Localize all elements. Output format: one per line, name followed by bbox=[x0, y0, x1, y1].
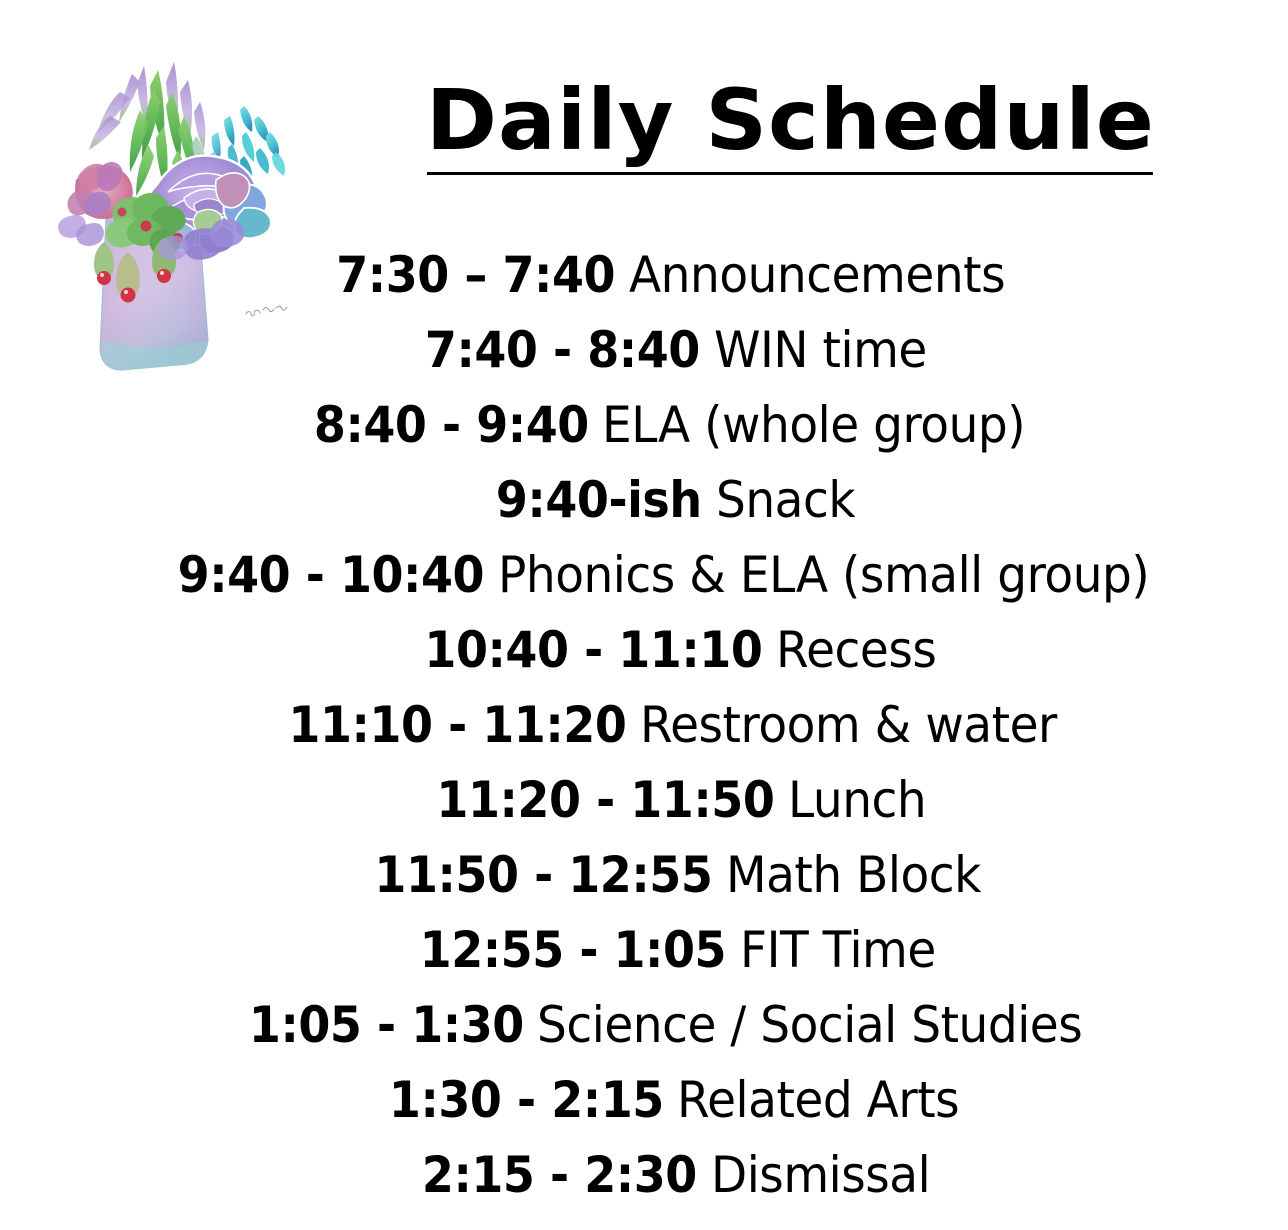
schedule-row: 7:40 - 8:40WIN time bbox=[54, 313, 1288, 388]
schedule-list: 7:30 – 7:40Announcements7:40 - 8:40WIN t… bbox=[0, 238, 1288, 1213]
schedule-time: 9:40-ish bbox=[496, 463, 702, 538]
schedule-activity: Restroom & water bbox=[640, 688, 1057, 763]
schedule-row: 11:20 - 11:50Lunch bbox=[54, 763, 1288, 838]
schedule-activity: Snack bbox=[716, 463, 855, 538]
schedule-row: 12:55 - 1:05FIT Time bbox=[54, 913, 1288, 988]
schedule-row: 9:40-ishSnack bbox=[54, 463, 1288, 538]
schedule-row: 11:50 - 12:55Math Block bbox=[54, 838, 1288, 913]
schedule-activity: Lunch bbox=[788, 763, 926, 838]
schedule-activity: WIN time bbox=[714, 313, 927, 388]
schedule-time: 12:55 - 1:05 bbox=[420, 913, 726, 988]
schedule-row: 1:05 - 1:30Science / Social Studies bbox=[54, 988, 1288, 1063]
schedule-time: 11:20 - 11:50 bbox=[436, 763, 774, 838]
schedule-row: 2:15 - 2:30Dismissal bbox=[54, 1138, 1288, 1213]
schedule-activity: Dismissal bbox=[711, 1138, 930, 1213]
schedule-time: 8:40 - 9:40 bbox=[313, 388, 588, 463]
schedule-row: 1:30 - 2:15Related Arts bbox=[54, 1063, 1288, 1138]
schedule-time: 7:30 – 7:40 bbox=[337, 238, 616, 313]
title-underline bbox=[427, 172, 1153, 175]
schedule-activity: Science / Social Studies bbox=[537, 988, 1082, 1063]
schedule-time: 1:05 - 1:30 bbox=[248, 988, 523, 1063]
schedule-row: 8:40 - 9:40ELA (whole group) bbox=[54, 388, 1288, 463]
page-title: Daily Schedule bbox=[425, 78, 1154, 162]
schedule-row: 7:30 – 7:40Announcements bbox=[54, 238, 1288, 313]
schedule-activity: FIT Time bbox=[740, 913, 936, 988]
schedule-time: 11:10 - 11:20 bbox=[288, 688, 626, 763]
page-title-block: Daily Schedule bbox=[330, 78, 1250, 175]
schedule-time: 1:30 - 2:15 bbox=[388, 1063, 663, 1138]
schedule-activity: Math Block bbox=[726, 838, 981, 913]
schedule-time: 11:50 - 12:55 bbox=[374, 838, 712, 913]
schedule-activity: Related Arts bbox=[677, 1063, 959, 1138]
schedule-activity: ELA (whole group) bbox=[602, 388, 1025, 463]
schedule-activity: Phonics & ELA (small group) bbox=[498, 538, 1149, 613]
schedule-row: 9:40 - 10:40Phonics & ELA (small group) bbox=[54, 538, 1288, 613]
schedule-time: 10:40 - 11:10 bbox=[424, 613, 762, 688]
schedule-activity: Recess bbox=[776, 613, 936, 688]
schedule-time: 7:40 - 8:40 bbox=[425, 313, 700, 388]
daily-schedule-page: Daily Schedule 7:30 – 7:40Announcements7… bbox=[0, 0, 1288, 1230]
schedule-row: 10:40 - 11:10Recess bbox=[54, 613, 1288, 688]
schedule-time: 9:40 - 10:40 bbox=[178, 538, 484, 613]
schedule-row: 11:10 - 11:20Restroom & water bbox=[54, 688, 1288, 763]
schedule-activity: Announcements bbox=[629, 238, 1005, 313]
schedule-time: 2:15 - 2:30 bbox=[422, 1138, 697, 1213]
